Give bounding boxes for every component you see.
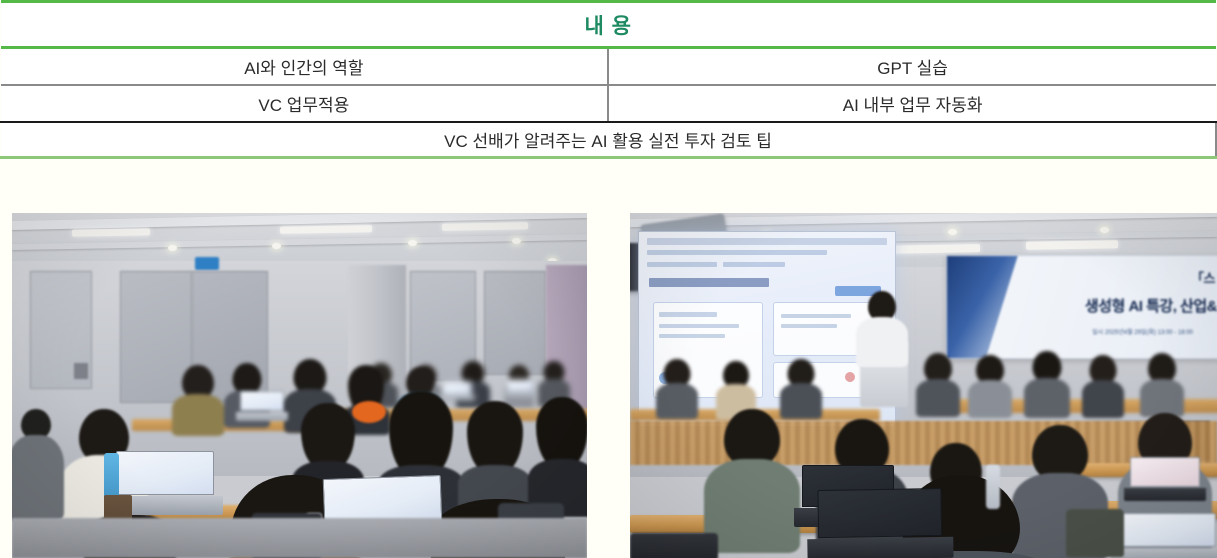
downlight xyxy=(512,238,521,244)
person-body xyxy=(968,380,1012,418)
person-hair xyxy=(536,397,587,467)
presenter-body xyxy=(856,317,908,367)
ceiling-light xyxy=(442,222,528,230)
laptop-screen xyxy=(116,451,214,495)
table-header-label: 내 용 xyxy=(585,10,632,40)
laptop xyxy=(1130,457,1200,501)
screen-tab xyxy=(647,262,717,267)
banner-line-1: 「스 xyxy=(1191,268,1215,287)
laptop xyxy=(240,391,284,421)
downlight xyxy=(272,243,281,249)
screen-heading xyxy=(649,278,769,287)
laptop-screen xyxy=(506,379,534,392)
laptop xyxy=(817,488,942,558)
person-body xyxy=(1024,378,1070,418)
person xyxy=(1082,355,1124,415)
page-root: 내 용 AI와 인간의 역할 GPT 실습 VC 업무적용 AI 내부 업무 자… xyxy=(0,0,1217,558)
person xyxy=(458,401,532,515)
laptop-keyboard xyxy=(1124,488,1207,501)
exit-sign-icon xyxy=(195,257,219,270)
chair xyxy=(630,533,718,558)
person-hair xyxy=(301,403,355,469)
ceiling-light xyxy=(1026,240,1118,250)
banner-line-2: 생성형 AI 특강, 산업& xyxy=(1085,295,1217,316)
downlight xyxy=(168,245,177,251)
table-row: VC 업무적용 AI 내부 업무 자동화 xyxy=(1,85,1217,122)
screen-text-line xyxy=(781,314,851,318)
person xyxy=(12,409,64,519)
downlight xyxy=(408,240,417,246)
laptop-keyboard xyxy=(236,412,288,421)
banner-stripe xyxy=(947,256,1018,358)
person-body xyxy=(656,383,698,419)
photo-lecture-hall-wide xyxy=(12,213,587,558)
downlight xyxy=(948,229,957,235)
screen-browser-bar xyxy=(647,238,887,245)
cell-row2-right: AI 내부 업무 자동화 xyxy=(608,85,1216,122)
laptop xyxy=(506,379,534,398)
person-body xyxy=(1140,379,1184,417)
cell-row1-left: AI와 인간의 역할 xyxy=(1,48,609,85)
table-row: VC 선배가 알려주는 AI 활용 실전 투자 검토 팁 xyxy=(1,122,1217,158)
person-body xyxy=(12,435,64,521)
event-banner: 「스 생성형 AI 특강, 산업& 일시 2025년4월 29일(화) 13:0… xyxy=(946,255,1217,359)
screen-text-line xyxy=(659,324,739,328)
person xyxy=(1140,353,1184,415)
cell-row1-right: GPT 실습 xyxy=(608,48,1216,85)
person xyxy=(968,355,1012,415)
screen-text-line xyxy=(659,312,717,317)
person xyxy=(656,359,698,417)
person xyxy=(172,365,224,433)
person xyxy=(1024,351,1070,415)
laptop-screen xyxy=(1130,457,1200,487)
photo-gallery: 「스 생성형 AI 특강, 산업& 일시 2025년4월 29일(화) 13:0… xyxy=(0,194,1217,558)
screen-tab xyxy=(723,262,785,267)
laptop-keyboard xyxy=(807,537,954,558)
person-body xyxy=(172,394,224,436)
person xyxy=(704,409,800,549)
laptop-keyboard xyxy=(1111,548,1217,558)
banner-line-3: 일시 2025년4월 29일(화) 13:00 - 18:00 xyxy=(1092,327,1193,336)
screen-text-line xyxy=(781,324,837,328)
floor xyxy=(12,518,587,558)
screen-icon xyxy=(845,372,855,382)
person xyxy=(916,353,960,415)
laptop xyxy=(1120,513,1216,558)
schedule-table: 내 용 AI와 인간의 역할 GPT 실습 VC 업무적용 AI 내부 업무 자… xyxy=(0,0,1217,159)
laptop-screen xyxy=(1120,513,1216,547)
water-bottle xyxy=(986,465,1000,509)
person-body xyxy=(704,459,800,553)
orange-object xyxy=(352,401,386,423)
wall-panel xyxy=(484,271,546,375)
backpack xyxy=(1066,509,1124,557)
table-header-cell: 내 용 xyxy=(1,2,1217,48)
laptop-screen xyxy=(817,488,942,538)
person-body xyxy=(916,379,960,417)
photo-lecture-hall-speaker: 「스 생성형 AI 특강, 산업& 일시 2025년4월 29일(화) 13:0… xyxy=(630,213,1217,558)
photo-scene xyxy=(12,213,587,558)
person-hair xyxy=(467,401,523,473)
laptop-screen xyxy=(240,391,284,411)
cell-row2-left: VC 업무적용 xyxy=(1,85,609,122)
wall-switch xyxy=(74,363,88,379)
person xyxy=(528,397,587,515)
table-row: AI와 인간의 역할 GPT 실습 xyxy=(1,48,1217,85)
ceiling-light xyxy=(72,228,150,236)
screen-url-bar xyxy=(647,250,827,255)
schedule-table-wrapper: 내 용 AI와 인간의 역할 GPT 실습 VC 업무적용 AI 내부 업무 자… xyxy=(0,0,1217,159)
photo-scene: 「스 생성형 AI 특강, 산업& 일시 2025년4월 29일(화) 13:0… xyxy=(630,213,1217,558)
table-header-row: 내 용 xyxy=(1,2,1217,48)
downlight xyxy=(1100,227,1109,233)
presenter xyxy=(856,291,908,363)
cell-row3-full: VC 선배가 알려주는 AI 활용 실전 투자 검토 팁 xyxy=(1,122,1217,158)
screen-text-line xyxy=(659,334,725,338)
